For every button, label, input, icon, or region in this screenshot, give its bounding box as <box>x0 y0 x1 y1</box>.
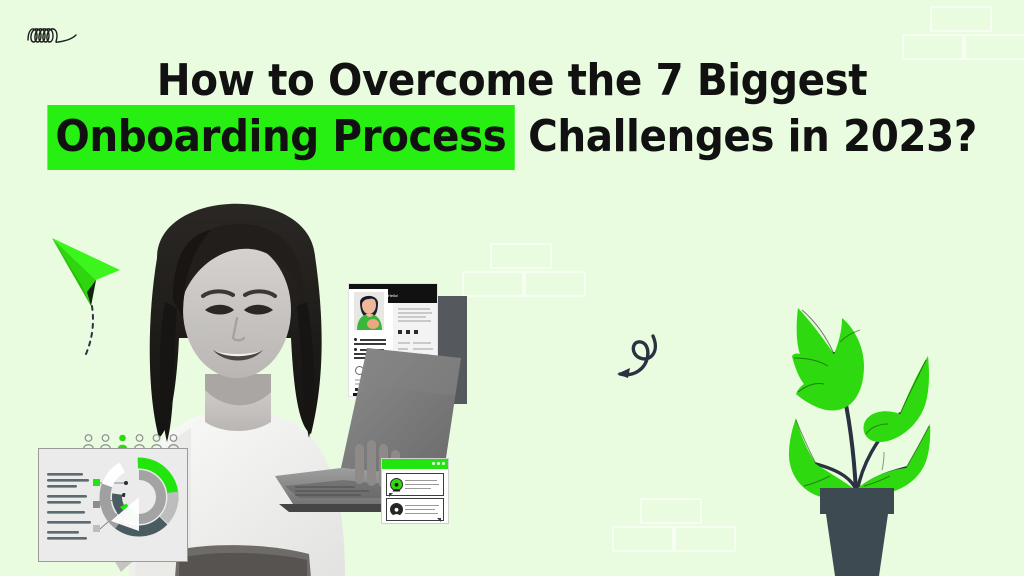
window-dot-icon[interactable] <box>432 462 435 465</box>
brick-tile <box>490 243 552 269</box>
donut-chart <box>39 449 185 559</box>
legend-swatch-light <box>93 525 100 532</box>
brick-pattern-top-right <box>908 6 1018 58</box>
brick-tile <box>930 6 992 32</box>
chat-window[interactable] <box>381 458 449 524</box>
brick-tile <box>640 498 702 524</box>
banner-canvas: How to Overcome the 7 Biggest Onboarding… <box>0 0 1024 576</box>
potted-plant-illustration <box>772 292 957 576</box>
window-dot-icon[interactable] <box>442 462 445 465</box>
legend-swatch-gray <box>93 501 100 508</box>
resume-square-marker <box>414 330 418 334</box>
laptop-illustration <box>255 336 485 526</box>
headline-line-1: How to Overcome the 7 Biggest <box>41 56 983 106</box>
brick-tile <box>524 271 586 297</box>
resume-square-marker <box>398 330 402 334</box>
headline: How to Overcome the 7 Biggest Onboarding… <box>0 56 1024 162</box>
brick-tile <box>612 526 674 552</box>
resume-greeting-text: Hello! <box>388 293 398 298</box>
brick-tile <box>674 526 736 552</box>
avatar-green-icon <box>390 478 403 491</box>
chat-title-bar <box>382 459 448 469</box>
legend-swatch-green <box>93 479 100 486</box>
bubble-tail <box>437 518 441 522</box>
bubble-tail <box>389 493 393 497</box>
loop-squiggle-icon <box>24 22 84 51</box>
pot-rim <box>820 488 894 514</box>
window-controls[interactable] <box>432 462 445 465</box>
brick-pattern-center <box>468 243 578 295</box>
window-dot-icon[interactable] <box>437 462 440 465</box>
curly-arrow-icon <box>608 330 666 387</box>
chat-message-outgoing <box>386 498 444 521</box>
chat-message-incoming <box>386 473 444 496</box>
resume-square-marker <box>406 330 410 334</box>
headline-highlight: Onboarding Process <box>47 105 514 170</box>
headline-line-2: Onboarding Process Challenges in 2023? <box>41 112 983 162</box>
avatar-dark-icon <box>390 503 403 516</box>
analytics-dashboard-card <box>38 448 188 562</box>
brick-tile <box>462 271 524 297</box>
brick-pattern-bottom-center <box>618 498 728 550</box>
resume-profile-photo <box>354 292 384 330</box>
pot-body <box>826 514 888 576</box>
headline-line-2-rest: Challenges in 2023? <box>515 111 977 162</box>
